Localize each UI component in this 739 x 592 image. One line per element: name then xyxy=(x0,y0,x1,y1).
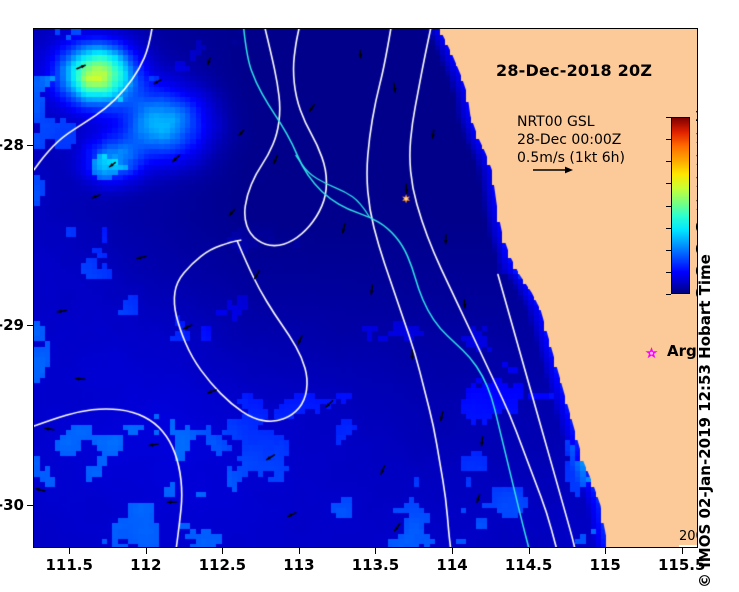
colorbar-tick xyxy=(666,272,671,273)
gsl-annotation: NRT00 GSL 28-Dec 00:00Z 0.5m/s (1kt 6h) xyxy=(517,113,625,167)
argo-legend-label: Argo xyxy=(667,342,698,360)
x-tick xyxy=(222,548,223,554)
argo-legend: Argo xyxy=(645,342,698,360)
x-tick xyxy=(605,548,606,554)
x-tick xyxy=(375,548,376,554)
y-tick xyxy=(27,505,33,506)
x-tick-label: 111.5 xyxy=(39,556,99,574)
colorbar-tick-label: 1.75 xyxy=(695,131,698,147)
colorbar-gradient xyxy=(671,117,690,294)
colorbar-tick-label: 1.25 xyxy=(695,175,698,191)
gsl-time-label: 28-Dec 00:00Z xyxy=(517,131,625,149)
gsl-product-label: NRT00 GSL xyxy=(517,113,625,131)
x-tick xyxy=(299,548,300,554)
x-tick-label: 113.5 xyxy=(345,556,405,574)
colorbar[interactable]: 00.250.50.7511.251.51.752 xyxy=(671,117,690,294)
x-tick xyxy=(69,548,70,554)
x-tick xyxy=(452,548,453,554)
x-tick-label: 114.5 xyxy=(499,556,559,574)
y-tick-label: -29 xyxy=(0,316,24,334)
colorbar-tick xyxy=(666,183,671,184)
sst-age-heatmap-canvas[interactable] xyxy=(34,29,697,547)
x-tick-label: 115 xyxy=(575,556,635,574)
x-tick-label: 113 xyxy=(269,556,329,574)
x-tick-label: 115.5 xyxy=(652,556,712,574)
colorbar-tick xyxy=(666,139,671,140)
map-date-title: 28-Dec-2018 20Z xyxy=(496,61,652,80)
colorbar-tick-label: 1.5 xyxy=(695,153,698,169)
colorbar-tick xyxy=(666,117,671,118)
vector-arrow-icon xyxy=(533,165,573,175)
colorbar-tick-label: 0.75 xyxy=(695,220,698,236)
x-tick-label: 112 xyxy=(116,556,176,574)
colorbar-tick-label: 2 xyxy=(695,109,698,125)
colorbar-tick-label: 1 xyxy=(695,198,698,214)
figure-root: 28-Dec-2018 20Z NRT00 GSL 28-Dec 00:00Z … xyxy=(0,0,739,592)
x-tick xyxy=(529,548,530,554)
y-tick-label: -30 xyxy=(0,496,24,514)
colorbar-tick xyxy=(666,294,671,295)
colorbar-tick xyxy=(666,161,671,162)
y-tick-label: -28 xyxy=(0,136,24,154)
x-tick xyxy=(682,548,683,554)
y-tick xyxy=(27,145,33,146)
colorbar-tick xyxy=(666,228,671,229)
colorbar-tick xyxy=(666,206,671,207)
map-plot-area[interactable]: 28-Dec-2018 20Z NRT00 GSL 28-Dec 00:00Z … xyxy=(33,28,698,548)
y-tick xyxy=(27,325,33,326)
argo-marker-icon xyxy=(645,345,658,358)
x-tick-label: 114 xyxy=(422,556,482,574)
x-tick-label: 112.5 xyxy=(192,556,252,574)
credit-text: © IMOS 02-Jan-2019 12:53 Hobart Time xyxy=(696,254,714,588)
colorbar-tick xyxy=(666,250,671,251)
x-tick xyxy=(146,548,147,554)
